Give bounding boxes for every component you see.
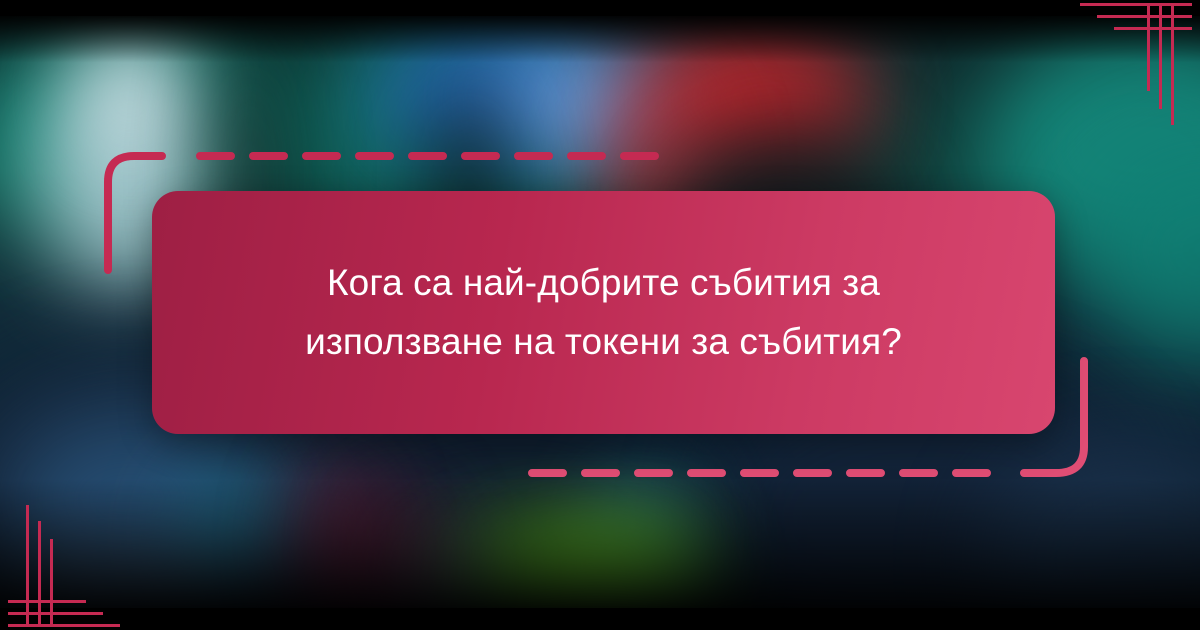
question-card: Кога са най-добрите събития за използван… bbox=[152, 191, 1055, 434]
corner-frame-top-right-line bbox=[1097, 15, 1192, 18]
corner-frame-top-right-line bbox=[1159, 3, 1162, 109]
corner-frame-bottom-left-line bbox=[8, 624, 120, 627]
corner-frame-top-right-line bbox=[1114, 27, 1192, 30]
question-text: Кога са най-добрите събития за използван… bbox=[284, 254, 924, 371]
corner-frame-bottom-left-line bbox=[50, 539, 53, 627]
letterbox-bar-bottom bbox=[0, 608, 1200, 630]
social-card-canvas: Кога са най-добрите събития за използван… bbox=[0, 0, 1200, 630]
corner-frame-top-right-line bbox=[1171, 3, 1174, 125]
corner-frame-bottom-left-line bbox=[8, 600, 86, 603]
corner-frame-bottom-left-line bbox=[8, 612, 103, 615]
corner-frame-top-right-line bbox=[1147, 3, 1150, 91]
corner-frame-bottom-left-line bbox=[26, 505, 29, 627]
corner-frame-bottom-left-line bbox=[38, 521, 41, 627]
letterbox-bar-top bbox=[0, 0, 1200, 16]
corner-frame-top-right-line bbox=[1080, 3, 1192, 6]
